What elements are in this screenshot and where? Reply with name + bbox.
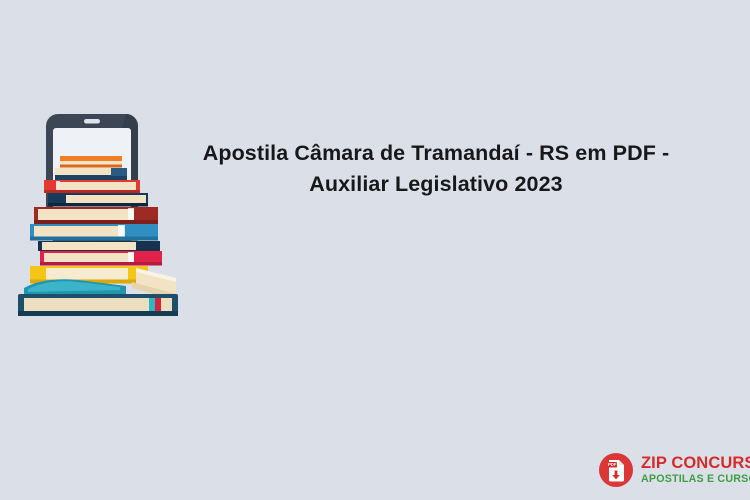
book-crimson [40,251,162,266]
book-navy-slim [38,241,160,251]
book-red [44,180,140,193]
logo-text-group: ZIP CONCURSOS APOSTILAS E CURSOS [641,455,750,486]
brand-logo[interactable]: PDF ZIP CONCURSOS APOSTILAS E CURSOS [598,448,746,492]
pdf-download-icon: PDF [598,452,634,488]
books-and-tablet-illustration [8,108,188,323]
book-bottom-dark [18,294,178,316]
book-top-navy [55,168,127,180]
svg-text:PDF: PDF [608,462,617,467]
page-title: Apostila Câmara de Tramandaí - RS em PDF… [186,138,686,200]
title-line-1: Apostila Câmara de Tramandaí - RS em PDF… [186,138,686,169]
logo-tagline: APOSTILAS E CURSOS [641,474,750,485]
title-line-2: Auxiliar Legislativo 2023 [186,169,686,200]
promo-banner: Apostila Câmara de Tramandaí - RS em PDF… [0,0,750,500]
book-blue [30,224,158,241]
book-maroon [34,207,158,224]
logo-brand-name: ZIP CONCURSOS [641,455,750,472]
book-top-orange [60,156,122,168]
book-dark-navy [48,193,148,207]
